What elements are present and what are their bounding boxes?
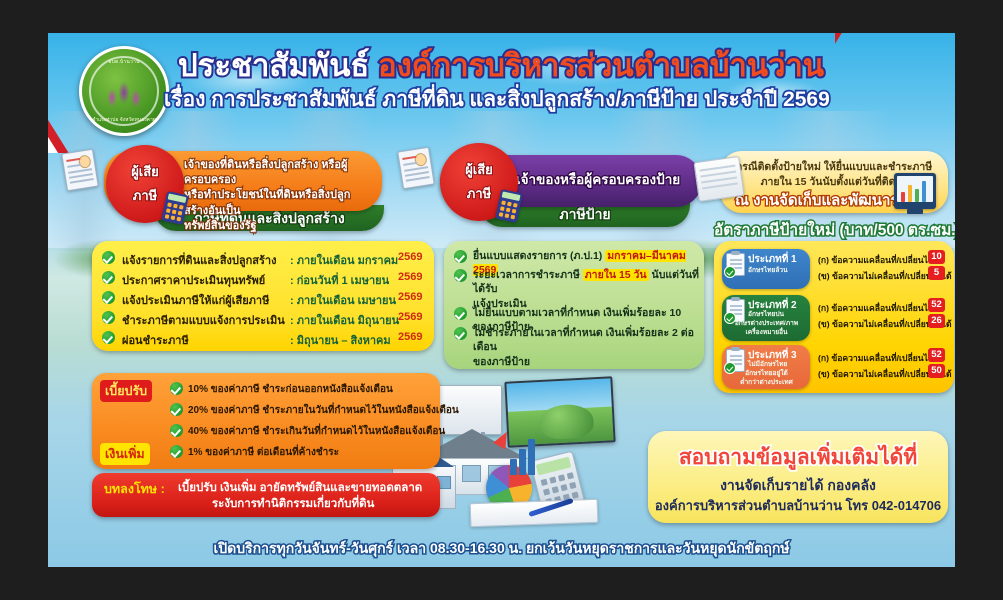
page-title: ประชาสัมพันธ์ องค์การบริหารส่วนตำบลบ้านว… (178, 50, 938, 83)
document-icon-sign (397, 147, 435, 190)
rate-item-label: (ก) ข้อความแคลื่อนที่/เปลี่ยนได้ (818, 301, 934, 315)
rate-type-sub: อักษรไทยปน (748, 311, 807, 319)
page-subtitle: เรื่อง การประชาสัมพันธ์ ภาษีที่ดิน และสิ… (164, 88, 954, 111)
schedule-row-task: ผ่อนชำระภาษี (122, 331, 189, 349)
monitor-stand (907, 209, 923, 214)
schedule-row-task: ประกาศราคาประเมินทุนทรัพย์ (122, 271, 265, 289)
schedule-row-year: 2569 (398, 271, 422, 283)
check-icon (102, 291, 115, 304)
rate-item-label: (ก) ข้อความแคลื่อนที่/เปลี่ยนได้ (818, 253, 934, 267)
rate-item-value: 50 (928, 364, 945, 378)
sign-tax-desc: เจ้าของหรือผู้ครอบครองป้าย (516, 171, 694, 190)
sign-rule-pre: ไม่ชำระภายในเวลาที่กำหนด เงินเพิ่มร้อยละ… (473, 327, 694, 353)
document-photo-icon-sign (414, 152, 428, 167)
land-schedule-panel: แจ้งรายการที่ดินและสิ่งปลูกสร้าง ประกาศร… (92, 241, 434, 351)
service-hours-text: เปิดบริการทุกวันจันทร์-วันศุกร์ เวลา 08.… (48, 535, 955, 561)
check-icon (102, 331, 115, 344)
rate-type-sub2: อักษรต่างประเทศ/ภาพ (726, 320, 807, 328)
contact-panel: สอบถามข้อมูลเพิ่มเติมได้ที่ งานจัดเก็บรา… (648, 431, 948, 523)
pen-and-pad-icon (693, 156, 744, 202)
check-icon (454, 269, 467, 282)
contact-line1: งานจัดเก็บรายได้ กองคลัง (648, 475, 948, 497)
punishment-tag: บทลงโทษ : (104, 479, 165, 499)
sign-tax-tab-label: ภาษีป้าย (559, 206, 610, 222)
sign-rule-item: ไม่ชำระภายในเวลาที่กำหนด เงินเพิ่มร้อยละ… (473, 326, 699, 369)
schedule-row-due: : ก่อนวันที่ 1 เมษายน (290, 271, 389, 289)
schedule-row-task: ชำระภาษีตามแบบแจ้งการประเมิน (122, 311, 285, 329)
rate-type-tile-2: ประเภทที่ 2 อักษรไทยปน อักษรต่างประเทศ/ภ… (722, 295, 810, 341)
rate-type-sub3: ต่ำกว่าต่างประเทศ (726, 379, 807, 387)
rate-item-value: 5 (928, 266, 945, 280)
penalty-row: 20% ของค่าภาษี ชำระภายในวันที่กำหนดไว้ใน… (188, 403, 459, 418)
rate-table-panel: ประเภทที่ 1 อักษรไทยล้วน (ก) ข้อความแคลื… (714, 241, 954, 393)
calculator-screen-sign (502, 191, 521, 201)
page-title-orange: องค์การบริหารส่วนตำบลบ้านว่าน (378, 48, 824, 83)
municipality-logo: อบต.บ้านว่าน อำเภอท่าบ่อ จังหวัดหนองคาย (79, 46, 169, 136)
sign-tax-desc-line1: เจ้าของหรือผู้ครอบครองป้าย (516, 171, 694, 190)
rate-type-tile-3: ประเภทที่ 3 ไม่มีอักษรไทย อักษรไทยอยู่ใต… (722, 345, 810, 389)
check-icon (102, 271, 115, 284)
check-badge-icon (724, 266, 736, 278)
fine-tag: เบี้ยปรับ (100, 380, 152, 402)
land-tax-desc: เจ้าของที่ดินหรือสิ่งปลูกสร้าง หรือผู้คร… (184, 158, 374, 234)
schedule-row-due: : ภายในเดือน เมษายน (290, 291, 396, 309)
sign-rule-pre: ระยะเวลาการชำระภาษี (473, 269, 583, 281)
rate-type-sub: อักษรไทยล้วน (748, 267, 807, 275)
clipboard-check-icon (726, 299, 745, 322)
bar-chart-icon (510, 433, 540, 475)
schedule-row-task: แจ้งรายการที่ดินและสิ่งปลูกสร้าง (122, 251, 276, 269)
rate-type-sub3: เครื่องหมายอื่น (726, 329, 807, 337)
calculator-screen (168, 193, 187, 203)
land-tax-desc-line3: ทรัพย์สินของรัฐ (184, 219, 374, 234)
land-tax-desc-line2: หรือทำประโยชน์ในที่ดินหรือสิ่งปลูกสร้างอ… (184, 188, 374, 218)
contact-heading: สอบถามข้อมูลเพิ่มเติมได้ที่ (648, 441, 948, 474)
punishment-line2: ระงับการทำนิติกรรมเกี่ยวกับที่ดิน (212, 495, 374, 513)
sign-rule-pre: ยื่นแบบแสดงรายการ (ภ.ป.1) (473, 250, 605, 262)
rate-item-value: 10 (928, 250, 945, 264)
penalty-row: 40% ของค่าภาษี ชำระเกินวันที่กำหนดไว้ในห… (188, 424, 445, 439)
rate-table-heading: อัตราภาษีป้ายใหม่ (บาท/500 ตร.ซม.) (714, 217, 954, 242)
poster-canvas: อบต.บ้านว่าน อำเภอท่าบ่อ จังหวัดหนองคาย … (48, 33, 955, 567)
schedule-row-year: 2569 (398, 331, 422, 343)
contact-line2: องค์การบริหารส่วนตำบลบ้านว่าน โทร 042-01… (648, 495, 948, 516)
schedule-row-due: : ภายในเดือน มิถุนายน (290, 311, 399, 329)
check-icon (102, 251, 115, 264)
document-photo-icon (78, 154, 92, 169)
sign-rule-post2: ของภาษีป้าย (473, 355, 699, 369)
rate-item-value: 52 (928, 298, 945, 312)
taxpayer-badge-land-line1: ผู้เสีย (106, 161, 184, 182)
sign-rules-panel: ยื่นแบบแสดงรายการ (ภ.ป.1) มกราคม–มีนาคม … (444, 241, 704, 369)
sign-rule-highlight: ภายใน 15 วัน (583, 269, 649, 281)
schedule-row-year: 2569 (398, 251, 422, 263)
document-icon-land (61, 149, 99, 192)
penalty-panel: เบี้ยปรับ เงินเพิ่ม 10% ของค่าภาษี ชำระก… (92, 373, 440, 469)
check-icon (170, 424, 183, 437)
rate-type-sub2: อักษรไทยอยู่ใต้ (726, 370, 807, 378)
schedule-row-year: 2569 (398, 311, 422, 323)
rate-item-value: 26 (928, 314, 945, 328)
page-title-white: ประชาสัมพันธ์ (178, 48, 369, 83)
clipboard-check-icon (726, 253, 745, 276)
check-icon (454, 250, 467, 263)
billboard-hill-graphic (539, 403, 595, 440)
schedule-row-year: 2569 (398, 291, 422, 303)
rate-type-tile-1: ประเภทที่ 1 อักษรไทยล้วน (722, 249, 810, 289)
rate-item-value: 52 (928, 348, 945, 362)
punishment-panel: บทลงโทษ : เบี้ยปรับ เงินเพิ่ม อายัดทรัพย… (92, 473, 440, 517)
check-icon (102, 311, 115, 324)
sign-rule-item: ระยะเวลาการชำระภาษี ภายใน 15 วัน นับแต่ว… (473, 268, 699, 311)
land-tax-desc-line1: เจ้าของที่ดินหรือสิ่งปลูกสร้าง หรือผู้คร… (184, 158, 374, 188)
check-icon (454, 327, 467, 340)
schedule-row-due: : ภายในเดือน มกราคม (290, 251, 398, 269)
schedule-row-due: : มิถุนายน – สิงหาคม (290, 331, 391, 349)
check-icon (170, 382, 183, 395)
check-icon (170, 403, 183, 416)
schedule-row-task: แจ้งประเมินภาษีให้แก่ผู้เสียภาษี (122, 291, 269, 309)
chart-monitor-icon (894, 173, 936, 209)
logo-bottom-text: อำเภอท่าบ่อ จังหวัดหนองคาย (82, 116, 166, 124)
rate-item-label: (ก) ข้อความแคลื่อนที่/เปลี่ยนได้ (818, 351, 934, 365)
monitor-screen (897, 176, 933, 202)
rate-type-sub: ไม่มีอักษรไทย (748, 361, 807, 369)
logo-top-text: อบต.บ้านว่าน (82, 58, 166, 66)
rate-type-name: ประเภทที่ 1 (748, 252, 806, 267)
surcharge-tag: เงินเพิ่ม (100, 443, 150, 465)
check-icon (454, 307, 467, 320)
clipboard-check-icon (726, 349, 745, 372)
check-icon (170, 445, 183, 458)
logo-motif-icon (104, 74, 144, 108)
penalty-row: 10% ของค่าภาษี ชำระก่อนออกหนังสือแจ้งเตื… (188, 382, 393, 397)
penalty-row: 1% ของค่าภาษี ต่อเดือนที่ค้างชำระ (188, 445, 339, 460)
taxpayer-badge-sign-line1: ผู้เสีย (440, 159, 518, 180)
